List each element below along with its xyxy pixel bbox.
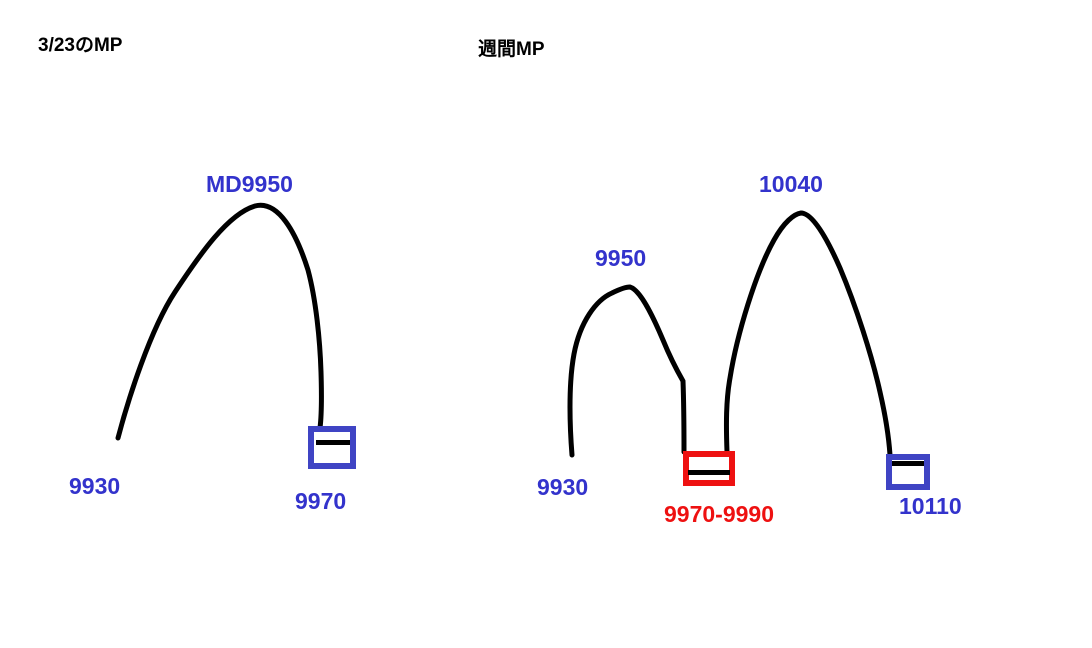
right-value-box-10110 [886, 454, 930, 490]
right-mid-range-label: 9970-9990 [664, 502, 774, 526]
right-value-box-tick [892, 461, 924, 466]
chart-canvas: 3/23のMP 週間MP MD9950 9930 9970 9950 10040… [0, 0, 1092, 648]
left-value-box-tick [316, 440, 350, 445]
left-value-box-9970 [308, 426, 356, 469]
right-profile-curve-first [570, 287, 684, 455]
left-profile-curve [118, 205, 321, 438]
right-end-label: 10110 [899, 494, 962, 518]
right-first-peak-label: 9950 [595, 246, 646, 270]
left-start-label: 9930 [69, 474, 120, 498]
right-value-box-9970-9990 [683, 451, 735, 486]
right-second-peak-label: 10040 [759, 172, 823, 196]
right-start-label: 9930 [537, 475, 588, 499]
left-panel-title: 3/23のMP [38, 36, 122, 56]
left-peak-label: MD9950 [206, 172, 293, 196]
right-profile-curve-second [726, 213, 890, 455]
right-mid-box-tick [688, 470, 730, 475]
left-end-label: 9970 [295, 489, 346, 513]
profile-curves-layer [0, 0, 1092, 648]
right-panel-title: 週間MP [478, 40, 545, 60]
